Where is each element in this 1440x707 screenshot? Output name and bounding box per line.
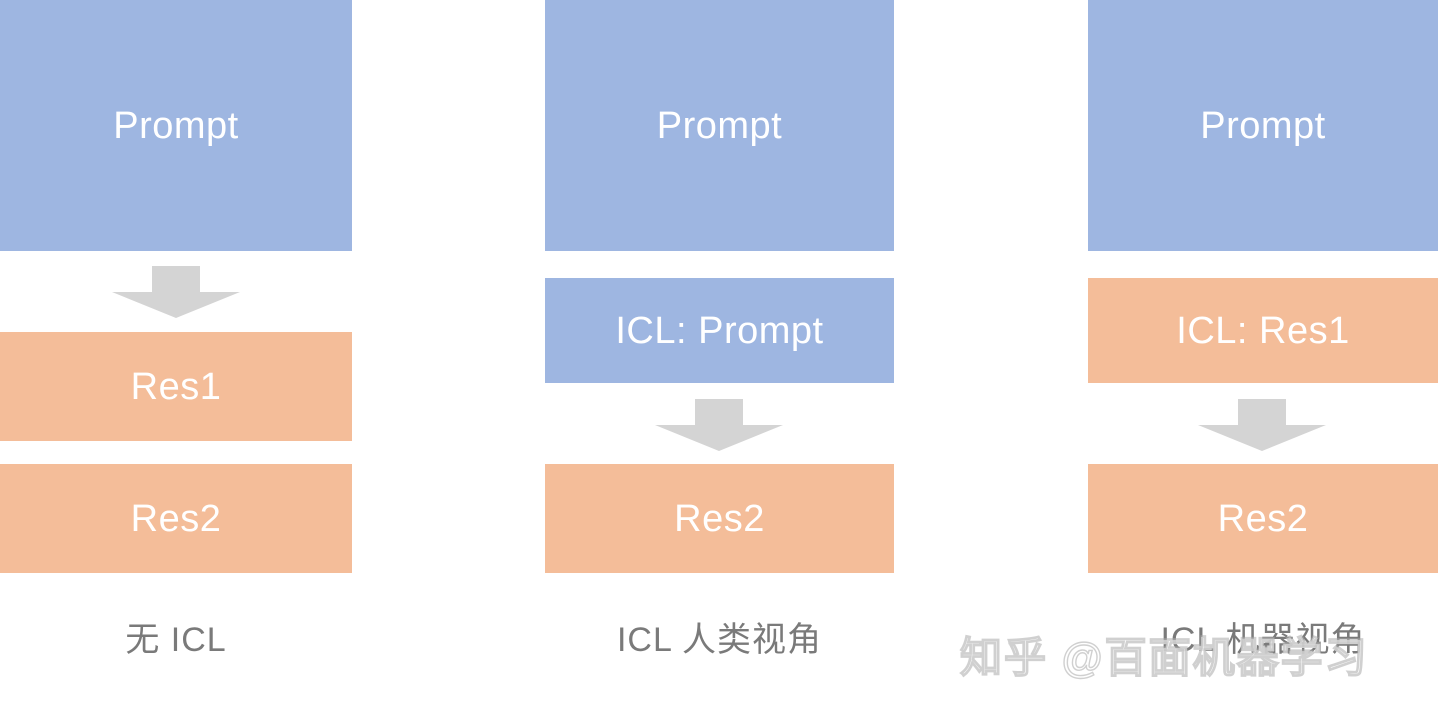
- box-prompt: Prompt: [545, 0, 894, 251]
- diagram-canvas: Prompt Res1 Res2 无 ICL Prompt ICL: Promp…: [0, 0, 1440, 707]
- box-label: ICL: Res1: [1176, 312, 1349, 350]
- box-prompt: Prompt: [0, 0, 352, 251]
- diagram-column-icl-human-view: Prompt ICL: Prompt Res2 ICL 人类视角: [545, 0, 894, 707]
- box-res1: Res1: [0, 332, 352, 441]
- down-arrow-icon: [112, 266, 240, 318]
- box-label: ICL: Prompt: [615, 312, 823, 350]
- box-res2: Res2: [0, 464, 352, 573]
- box-label: Res1: [131, 368, 222, 406]
- column-caption-icl-human-view: ICL 人类视角: [545, 620, 894, 661]
- box-label: Prompt: [657, 107, 782, 145]
- box-icl-prompt: ICL: Prompt: [545, 278, 894, 383]
- column-caption-no-icl: 无 ICL: [0, 620, 352, 661]
- box-label: Prompt: [113, 107, 238, 145]
- diagram-column-no-icl: Prompt Res1 Res2 无 ICL: [0, 0, 352, 707]
- box-label: Prompt: [1200, 107, 1325, 145]
- box-label: Res2: [131, 500, 222, 538]
- box-icl-res1: ICL: Res1: [1088, 278, 1438, 383]
- box-label: Res2: [674, 500, 765, 538]
- down-arrow-icon: [655, 399, 783, 451]
- diagram-column-icl-machine-view: Prompt ICL: Res1 Res2 ICL 机器视角: [1088, 0, 1438, 707]
- column-caption-icl-machine-view: ICL 机器视角: [1088, 620, 1438, 661]
- down-arrow-icon: [1198, 399, 1326, 451]
- box-res2: Res2: [545, 464, 894, 573]
- box-label: Res2: [1218, 500, 1309, 538]
- box-prompt: Prompt: [1088, 0, 1438, 251]
- box-res2: Res2: [1088, 464, 1438, 573]
